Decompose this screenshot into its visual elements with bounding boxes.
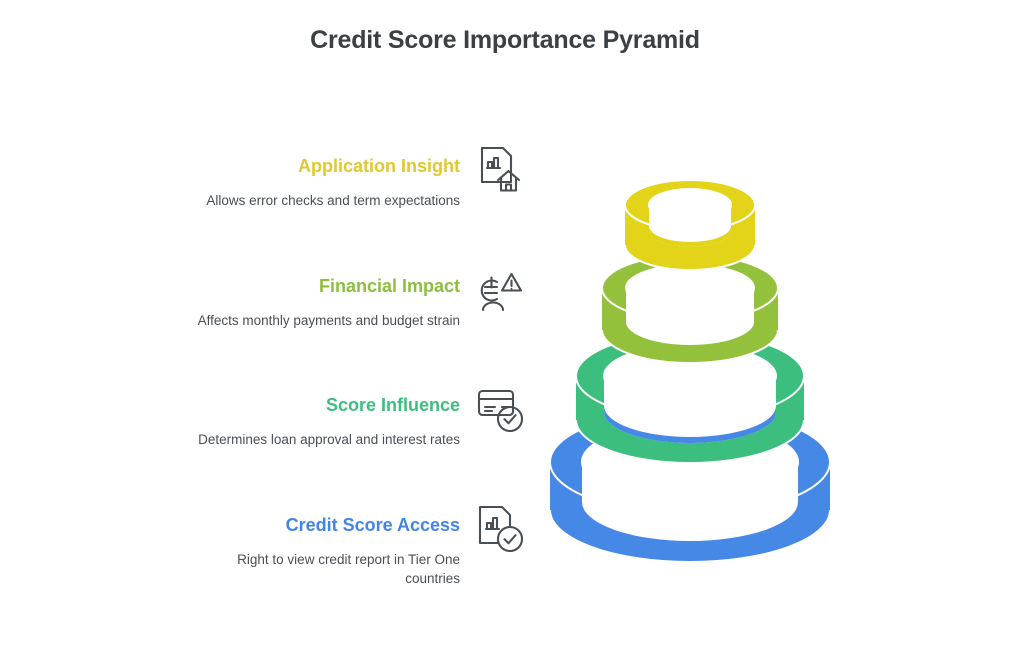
list-item[interactable]: Financial Impact Affects monthly payment… xyxy=(110,275,460,330)
item-title: Score Influence xyxy=(110,394,460,416)
item-description: Allows error checks and term expectation… xyxy=(110,191,460,210)
pyramid-ring-stack xyxy=(520,120,860,630)
list-item[interactable]: Application Insight Allows error checks … xyxy=(110,155,460,210)
item-title: Credit Score Access xyxy=(110,514,460,536)
list-item[interactable]: Score Influence Determines loan approval… xyxy=(110,394,460,449)
ring-level-2 xyxy=(602,255,778,363)
item-description: Right to view credit report in Tier One … xyxy=(210,550,460,588)
infographic-canvas: Credit Score Importance Pyramid Applicat… xyxy=(0,0,1010,660)
item-description: Determines loan approval and interest ra… xyxy=(110,430,460,449)
item-description: Affects monthly payments and budget stra… xyxy=(110,311,460,330)
ring-level-1 xyxy=(625,180,755,270)
list-item[interactable]: Credit Score Access Right to view credit… xyxy=(110,514,460,588)
item-title: Financial Impact xyxy=(110,275,460,297)
item-title: Application Insight xyxy=(110,155,460,177)
